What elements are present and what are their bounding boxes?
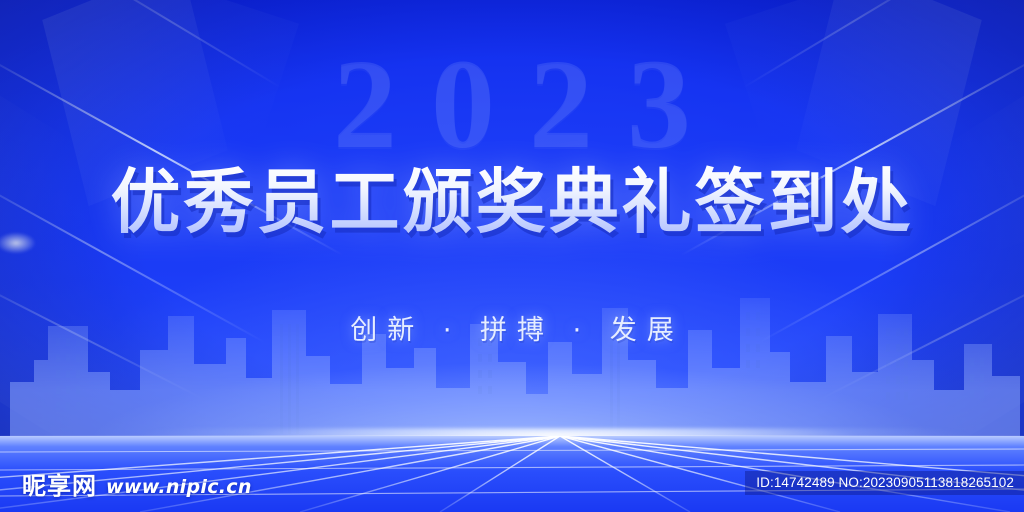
site-url-text: www.nipic.cn	[106, 478, 252, 498]
title-block: 优秀员工颁奖典礼签到处	[0, 163, 1024, 241]
year-watermark: 2023	[0, 34, 1024, 175]
poster-canvas: 2023	[0, 0, 1024, 512]
page-title: 优秀员工颁奖典礼签到处	[111, 163, 914, 241]
site-watermark: 昵享网 www.nipic.cn	[22, 474, 252, 498]
city-skyline	[0, 264, 1024, 444]
asset-id-badge: ID:14742489 NO:20230905113818265102	[745, 471, 1024, 495]
site-logo-text: 昵享网	[22, 474, 97, 498]
page-subtitle: 创新 · 拼搏 · 发展	[0, 308, 1024, 347]
